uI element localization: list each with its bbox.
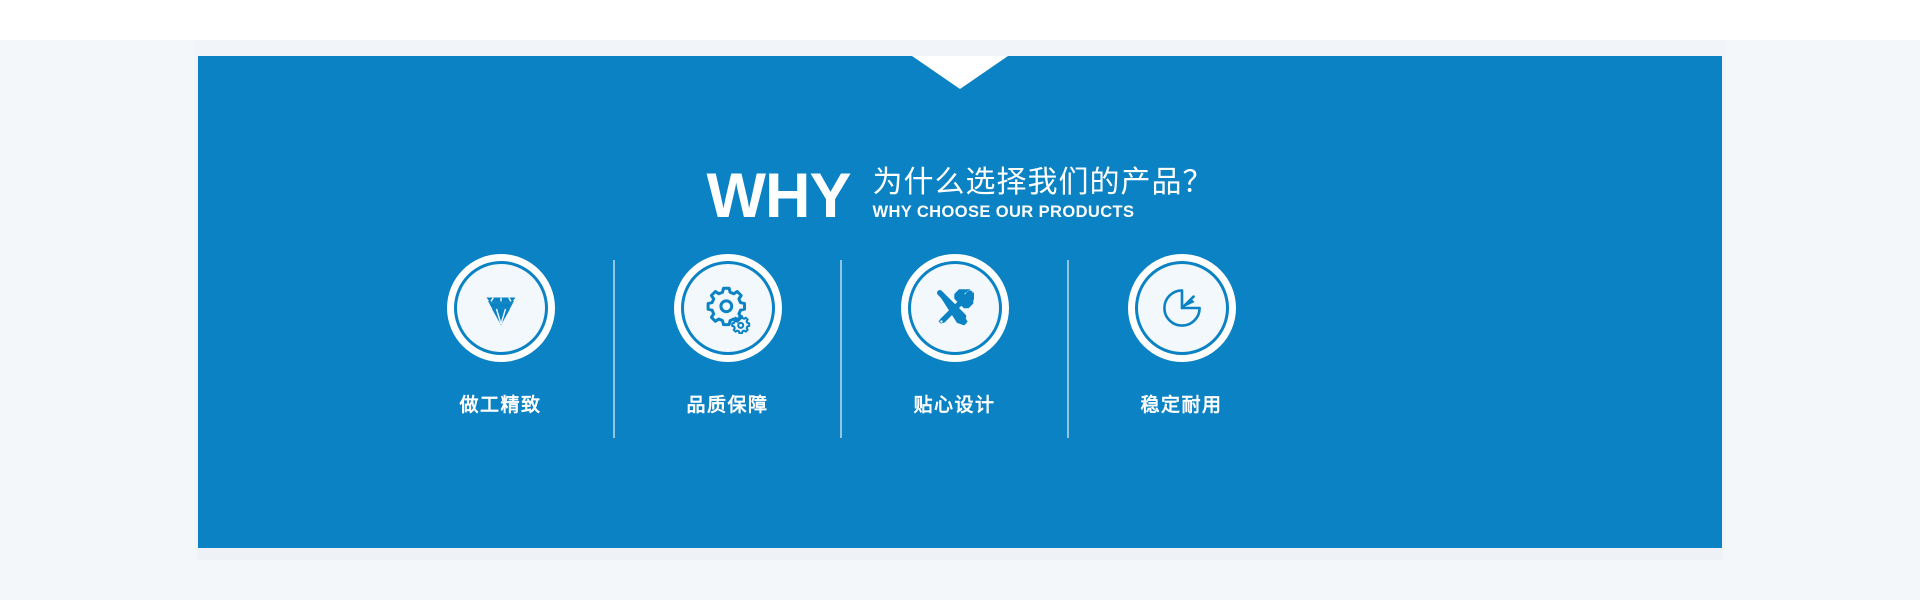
icon-inner-ring (908, 261, 1002, 355)
gears-icon (702, 282, 754, 334)
feature-item-durability[interactable]: 稳定耐用 (1069, 254, 1294, 417)
icon-badge (1128, 254, 1236, 362)
feature-label: 做工精致 (459, 390, 541, 417)
feature-label: 稳定耐用 (1140, 390, 1222, 417)
panel-notch-arrow (912, 56, 1008, 89)
timer-icon (1159, 285, 1205, 331)
heading-why-word: WHY (707, 169, 851, 223)
diamond-icon (477, 284, 525, 332)
tools-icon (930, 283, 980, 333)
feature-list: 做工精致 (388, 254, 1458, 438)
page-title: 为什么选择我们的产品？ (872, 166, 1213, 200)
page-subtitle: WHY CHOOSE OUR PRODUCTS (872, 203, 1213, 222)
page-bottom-fill (0, 560, 1920, 600)
icon-inner-ring (1135, 261, 1229, 355)
heading-inner: WHY 为什么选择我们的产品？ WHY CHOOSE OUR PRODUCTS (707, 166, 1214, 224)
panel-heading: WHY 为什么选择我们的产品？ WHY CHOOSE OUR PRODUCTS (198, 166, 1722, 224)
icon-badge (674, 254, 782, 362)
page-root: WHY 为什么选择我们的产品？ WHY CHOOSE OUR PRODUCTS (0, 0, 1920, 600)
feature-label: 贴心设计 (913, 390, 995, 417)
heading-text-group: 为什么选择我们的产品？ WHY CHOOSE OUR PRODUCTS (872, 166, 1213, 224)
feature-item-quality[interactable]: 品质保障 (615, 254, 840, 417)
feature-item-craftsmanship[interactable]: 做工精致 (388, 254, 613, 417)
icon-badge (901, 254, 1009, 362)
feature-item-design[interactable]: 贴心设计 (842, 254, 1067, 417)
panel-bottom-strip (198, 548, 1722, 560)
icon-badge (447, 254, 555, 362)
icon-inner-ring (681, 261, 775, 355)
icon-inner-ring (454, 261, 548, 355)
feature-label: 品质保障 (686, 390, 768, 417)
why-choose-us-panel: WHY 为什么选择我们的产品？ WHY CHOOSE OUR PRODUCTS (198, 56, 1722, 548)
